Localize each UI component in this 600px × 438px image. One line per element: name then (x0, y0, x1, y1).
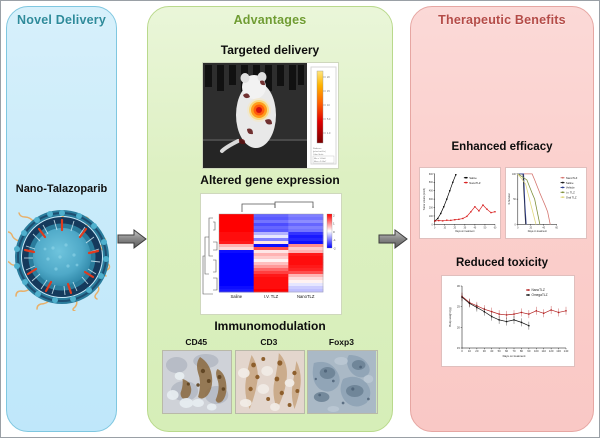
svg-text:Saline: Saline (230, 294, 242, 299)
svg-text:NanoTLZ: NanoTLZ (297, 294, 315, 299)
section-heading-enhanced-efficacy: Enhanced efficacy (411, 141, 593, 153)
arrow-advantages-to-benefits (378, 228, 408, 250)
panel-title-therapeutic-benefits: Therapeutic Benefits (411, 13, 593, 27)
svg-text:80: 80 (520, 349, 524, 353)
svg-text:I.V. TLZ: I.V. TLZ (264, 294, 279, 299)
panel-advantages: Advantages Targeted delivery (147, 6, 393, 432)
panel-novel-delivery: Novel Delivery Nano-Talazoparib (6, 6, 117, 432)
svg-text:15: 15 (457, 346, 461, 350)
graphical-abstract: Novel Delivery Nano-Talazoparib (0, 0, 600, 438)
ihc-cell-cd3: CD3 (235, 337, 303, 414)
svg-text:30: 30 (483, 349, 487, 353)
ihc-cell-cd45: CD45 (162, 337, 230, 414)
svg-text:Saline: Saline (566, 181, 574, 185)
svg-text:30: 30 (457, 284, 461, 288)
gene-expression-heatmap: SalineI.V. TLZNanoTLZ 210-1-2 (200, 193, 342, 315)
svg-text:NanoTLZ: NanoTLZ (566, 176, 578, 180)
svg-text:10: 10 (468, 349, 472, 353)
ihc-image-cd45 (162, 350, 232, 414)
ihc-cell-foxp3: Foxp3 (307, 337, 375, 414)
svg-text:110: 110 (541, 349, 546, 353)
svg-text:OmegaTLZ: OmegaTLZ (532, 293, 548, 297)
panel-title-advantages: Advantages (148, 13, 392, 27)
arrow-delivery-to-advantages (117, 228, 147, 250)
svg-text:Days on treatment: Days on treatment (503, 354, 526, 358)
ihc-image-foxp3 (307, 350, 377, 414)
svg-text:-2: -2 (333, 246, 336, 250)
svg-text:60: 60 (505, 349, 509, 353)
svg-text:20: 20 (475, 349, 479, 353)
svg-text:140: 140 (564, 349, 569, 353)
svg-text:50: 50 (498, 349, 502, 353)
svg-text:(p/sec/cm2/sr): (p/sec/cm2/sr) (313, 151, 326, 153)
svg-text:NanoTLZ: NanoTLZ (469, 181, 481, 185)
ihc-label-cd45: CD45 (162, 337, 230, 347)
svg-text:25: 25 (457, 305, 461, 309)
svg-text:Days on treatment: Days on treatment (528, 230, 547, 233)
svg-text:% Survival: % Survival (508, 193, 511, 204)
svg-text:70: 70 (512, 349, 516, 353)
section-heading-immunomodulation: Immunomodulation (148, 319, 392, 333)
svg-text:NanoTLZ: NanoTLZ (532, 288, 545, 292)
svg-text:Oral TLZ: Oral TLZ (566, 195, 577, 199)
svg-text:Tumor volume (mm3): Tumor volume (mm3) (423, 188, 426, 210)
ihc-label-cd3: CD3 (235, 337, 303, 347)
svg-text:120: 120 (549, 349, 554, 353)
svg-text:40: 40 (490, 349, 494, 353)
svg-text:90: 90 (527, 349, 531, 353)
svg-text:Radiance: Radiance (313, 148, 322, 150)
svg-text:Vehicle: Vehicle (566, 186, 575, 190)
svg-text:Days on treatment: Days on treatment (455, 230, 474, 233)
ihc-stain-panel: CD45 (160, 337, 380, 429)
section-heading-targeted-delivery: Targeted delivery (148, 43, 392, 57)
ihc-label-foxp3: Foxp3 (307, 337, 375, 347)
mouse-bioluminescence-image: 2015 105.0 1.0 Radiance (p/sec/cm2/sr) C… (202, 62, 339, 169)
liposome-nanoparticle-icon (8, 203, 116, 311)
panel-title-novel-delivery: Novel Delivery (7, 13, 116, 27)
ihc-image-cd3 (235, 350, 305, 414)
svg-text:Min = 1.00e6: Min = 1.00e6 (314, 158, 327, 160)
section-heading-reduced-toxicity: Reduced toxicity (411, 257, 593, 269)
section-heading-altered-gene-expression: Altered gene expression (148, 173, 392, 187)
svg-text:Color Scale: Color Scale (313, 154, 324, 156)
svg-text:Body weight (g): Body weight (g) (448, 307, 452, 327)
tumor-volume-chart: 01020304050600100200300400500600 SalineN… (419, 167, 501, 239)
nanoparticle-label: Nano-Talazoparib (7, 183, 116, 195)
svg-text:Saline: Saline (469, 176, 477, 180)
body-weight-chart: 0102030405060708090100110120130140152025… (441, 275, 575, 367)
svg-text:20: 20 (457, 325, 461, 329)
svg-text:100: 100 (534, 349, 539, 353)
svg-text:-1: -1 (333, 238, 336, 242)
svg-text:Max = 2.00e7: Max = 2.00e7 (314, 161, 327, 163)
efficacy-charts: 01020304050600100200300400500600 SalineN… (419, 167, 587, 239)
svg-text:130: 130 (556, 349, 561, 353)
panel-therapeutic-benefits: Therapeutic Benefits Enhanced efficacy 0… (410, 6, 594, 432)
svg-text:i.v. TLZ: i.v. TLZ (566, 190, 575, 194)
survival-chart: 0204060050100 NanoTLZSalineVehiclei.v. T… (505, 167, 587, 239)
